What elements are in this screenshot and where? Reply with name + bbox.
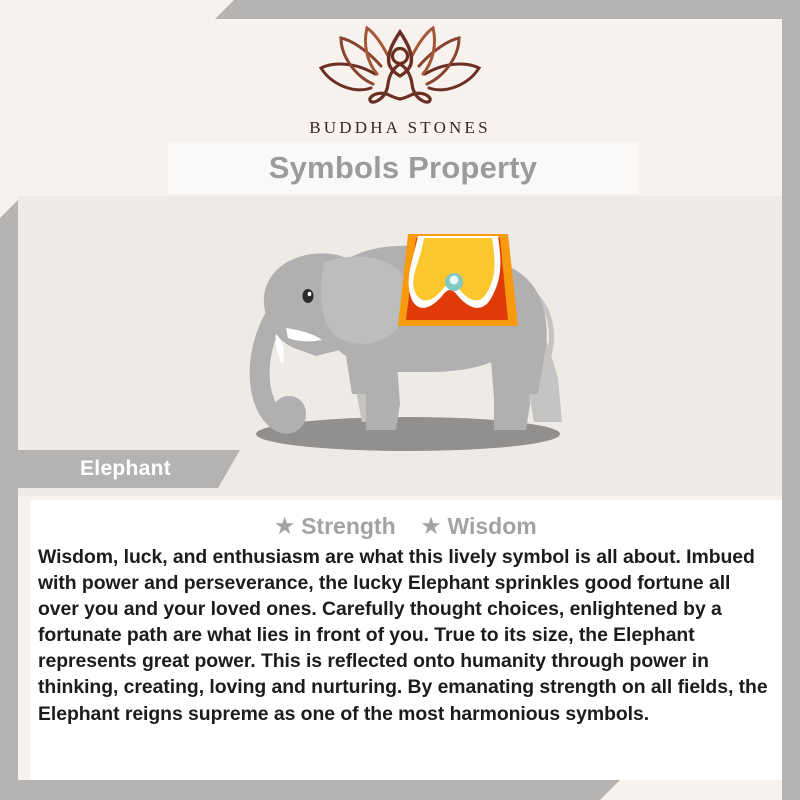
attribute-label: Wisdom — [447, 513, 536, 540]
symbol-description-text: Wisdom, luck, and enthusiasm are what th… — [38, 544, 772, 727]
brand-logo: BUDDHA STONES — [0, 22, 800, 138]
brand-name: BUDDHA STONES — [0, 118, 800, 138]
symbol-description-panel: ★ Strength ★ Wisdom Wisdom, luck, and en… — [30, 500, 782, 780]
decorative-band-right — [782, 0, 800, 800]
star-icon: ★ — [275, 516, 294, 537]
attribute-strength: ★ Strength — [275, 513, 395, 540]
attribute-label: Strength — [301, 513, 396, 540]
symbol-name: Elephant — [80, 457, 171, 481]
elephant-eye — [303, 289, 314, 303]
walking-elephant-illustration — [190, 208, 610, 458]
symbol-attributes: ★ Strength ★ Wisdom — [30, 500, 782, 540]
lotus-meditation-icon — [315, 22, 485, 114]
attribute-wisdom: ★ Wisdom — [422, 513, 537, 540]
star-icon: ★ — [422, 516, 441, 537]
decorative-band-top — [215, 0, 800, 19]
symbol-property-card: BUDDHA STONES Symbols Property — [0, 0, 800, 800]
elephant-saddle — [398, 234, 518, 326]
decorative-band-bottom — [0, 780, 620, 800]
symbol-name-banner: Elephant — [0, 450, 240, 488]
decorative-band-left — [0, 200, 18, 800]
page-title-band: Symbols Property — [168, 142, 638, 194]
page-title: Symbols Property — [269, 150, 538, 186]
